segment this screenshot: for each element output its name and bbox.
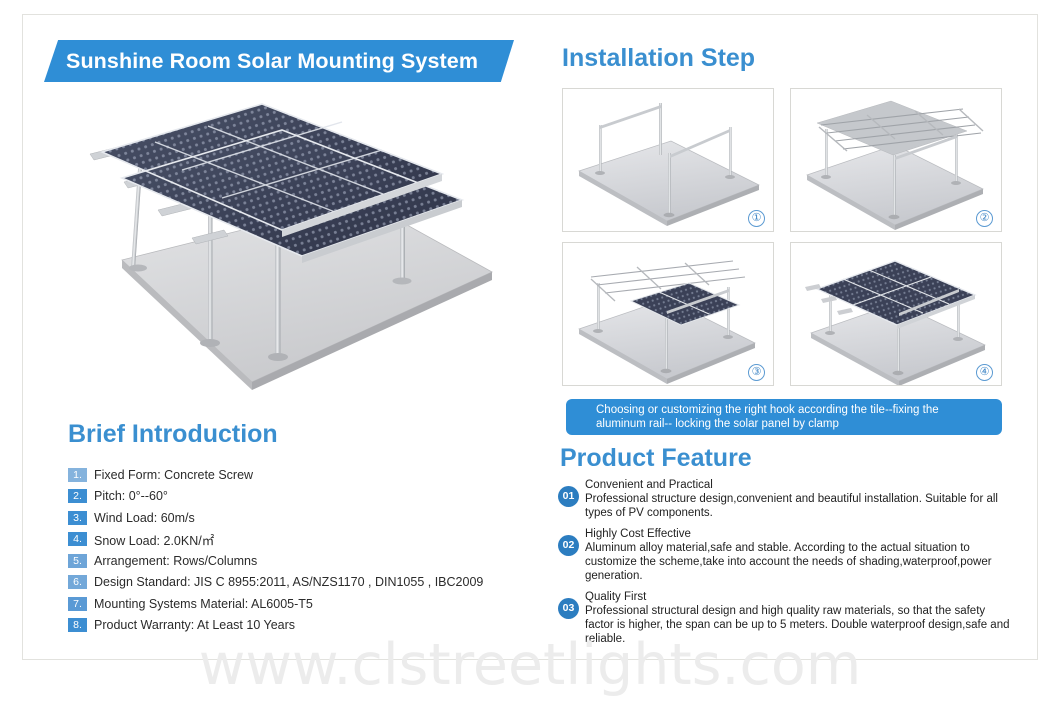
item-text: Pitch: 0°--60° bbox=[94, 489, 168, 503]
list-item: 1. Fixed Form: Concrete Screw bbox=[68, 464, 538, 486]
feature-body: Quality First Professional structural de… bbox=[585, 590, 1010, 646]
feature-body: Highly Cost Effective Aluminum alloy mat… bbox=[585, 527, 1010, 583]
feature-title: Highly Cost Effective bbox=[585, 527, 1010, 541]
item-text: Product Warranty: At Least 10 Years bbox=[94, 618, 295, 632]
item-text: Snow Load: 2.0KN/㎡ bbox=[94, 530, 214, 549]
item-number-badge: 4. bbox=[68, 532, 87, 546]
step-number-badge: ① bbox=[748, 210, 765, 227]
product-spec-sheet: Sunshine Room Solar Mounting System bbox=[0, 0, 1060, 718]
hero-product-illustration bbox=[62, 82, 542, 412]
feature-title: Convenient and Practical bbox=[585, 478, 1010, 492]
step-number-badge: ② bbox=[976, 210, 993, 227]
installation-step-heading: Installation Step bbox=[562, 44, 755, 73]
feature-description: Professional structural design and high … bbox=[585, 604, 1010, 646]
brief-introduction-list: 1. Fixed Form: Concrete Screw 2. Pitch: … bbox=[68, 464, 538, 636]
list-item: 02 Highly Cost Effective Aluminum alloy … bbox=[558, 527, 1010, 583]
step-2-illustration bbox=[791, 89, 1001, 231]
installation-step-3: ③ bbox=[562, 242, 774, 386]
list-item: 4. Snow Load: 2.0KN/㎡ bbox=[68, 529, 538, 551]
list-item: 8. Product Warranty: At Least 10 Years bbox=[68, 615, 538, 637]
list-item: 2. Pitch: 0°--60° bbox=[68, 486, 538, 508]
step-4-illustration bbox=[791, 243, 1001, 385]
title-banner: Sunshine Room Solar Mounting System bbox=[44, 40, 514, 82]
installation-step-grid: ① bbox=[562, 88, 1002, 388]
product-feature-list: 01 Convenient and Practical Professional… bbox=[558, 478, 1010, 653]
item-number-badge: 8. bbox=[68, 618, 87, 632]
item-number-badge: 6. bbox=[68, 575, 87, 589]
item-text: Design Standard: JIS C 8955:2011, AS/NZS… bbox=[94, 575, 483, 589]
item-text: Wind Load: 60m/s bbox=[94, 511, 195, 525]
installation-instruction-text: Choosing or customizing the right hook a… bbox=[566, 403, 1002, 431]
step-number-badge: ④ bbox=[976, 364, 993, 381]
list-item: 5. Arrangement: Rows/Columns bbox=[68, 550, 538, 572]
feature-title: Quality First bbox=[585, 590, 1010, 604]
feature-description: Aluminum alloy material,safe and stable.… bbox=[585, 541, 1010, 583]
list-item: 7. Mounting Systems Material: AL6005-T5 bbox=[68, 593, 538, 615]
list-item: 01 Convenient and Practical Professional… bbox=[558, 478, 1010, 520]
feature-body: Convenient and Practical Professional st… bbox=[585, 478, 1010, 520]
item-text: Arrangement: Rows/Columns bbox=[94, 554, 257, 568]
installation-step-4: ④ bbox=[790, 242, 1002, 386]
list-item: 3. Wind Load: 60m/s bbox=[68, 507, 538, 529]
list-item: 03 Quality First Professional structural… bbox=[558, 590, 1010, 646]
step-number-badge: ③ bbox=[748, 364, 765, 381]
list-item: 6. Design Standard: JIS C 8955:2011, AS/… bbox=[68, 572, 538, 594]
step-3-illustration bbox=[563, 243, 773, 385]
feature-number-badge: 02 bbox=[558, 535, 579, 556]
item-text: Mounting Systems Material: AL6005-T5 bbox=[94, 597, 313, 611]
step-1-illustration bbox=[563, 89, 773, 231]
title-banner-text: Sunshine Room Solar Mounting System bbox=[44, 49, 478, 74]
brief-introduction-heading: Brief Introduction bbox=[68, 420, 278, 449]
installation-step-2: ② bbox=[790, 88, 1002, 232]
installation-step-1: ① bbox=[562, 88, 774, 232]
item-text: Fixed Form: Concrete Screw bbox=[94, 468, 253, 482]
feature-number-badge: 03 bbox=[558, 598, 579, 619]
item-number-badge: 2. bbox=[68, 489, 87, 503]
feature-description: Professional structure design,convenient… bbox=[585, 492, 1010, 520]
solar-carport-render bbox=[62, 82, 542, 412]
item-number-badge: 7. bbox=[68, 597, 87, 611]
feature-number-badge: 01 bbox=[558, 486, 579, 507]
item-number-badge: 1. bbox=[68, 468, 87, 482]
item-number-badge: 5. bbox=[68, 554, 87, 568]
product-feature-heading: Product Feature bbox=[560, 444, 752, 473]
installation-instruction-banner: Choosing or customizing the right hook a… bbox=[566, 399, 1002, 435]
item-number-badge: 3. bbox=[68, 511, 87, 525]
